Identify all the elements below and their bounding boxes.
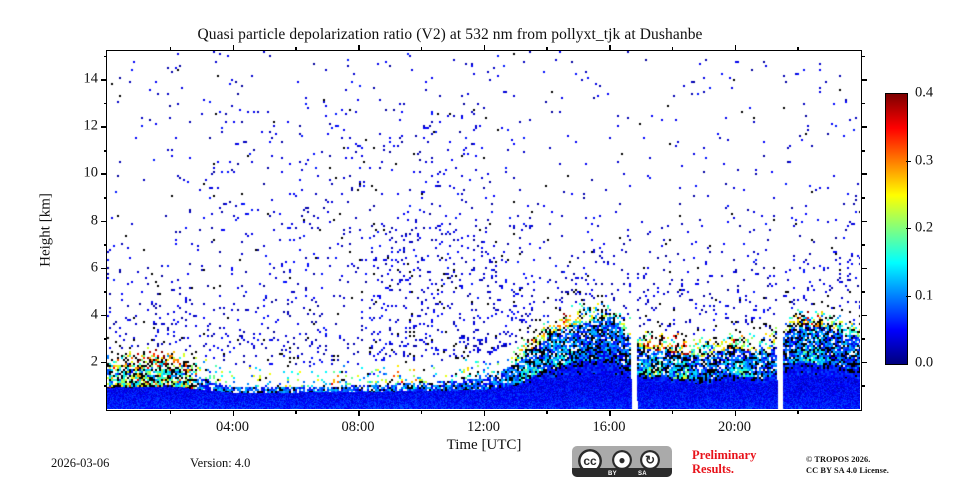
y-minor-tick <box>861 244 865 246</box>
x-tick-mark <box>484 410 486 416</box>
y-tick-mark <box>101 268 107 270</box>
x-minor-tick <box>546 410 548 414</box>
y-minor-tick <box>861 103 865 105</box>
y-tick-label: 4 <box>91 306 98 323</box>
preliminary-line-1: Preliminary <box>692 448 802 462</box>
x-minor-tick <box>421 47 423 51</box>
preliminary-results-note: Preliminary Results. <box>692 448 802 476</box>
y-minor-tick <box>104 103 108 105</box>
x-tick-label: 20:00 <box>718 419 751 436</box>
x-tick-label: 04:00 <box>216 419 249 436</box>
x-minor-tick <box>797 47 799 51</box>
y-minor-tick <box>104 197 108 199</box>
cc-by-person-icon: ● <box>612 450 632 470</box>
cc-badge-strip: BY SA <box>572 468 672 477</box>
heatmap-canvas[interactable] <box>107 51 860 409</box>
y-minor-tick <box>861 291 865 293</box>
x-tick-mark <box>609 45 611 51</box>
y-minor-tick <box>861 56 865 58</box>
y-tick-mark <box>101 221 107 223</box>
y-tick-mark <box>861 173 867 175</box>
colorbar-gradient <box>885 93 908 365</box>
colorbar-tick-mark <box>906 296 911 297</box>
x-minor-tick <box>797 410 799 414</box>
y-tick-label: 14 <box>84 71 99 88</box>
x-minor-tick <box>170 47 172 51</box>
x-tick-mark <box>358 410 360 416</box>
footer-date: 2026-03-06 <box>51 456 109 471</box>
y-minor-tick <box>861 385 865 387</box>
y-tick-label: 2 <box>91 353 98 370</box>
x-minor-tick <box>672 47 674 51</box>
x-axis-label: Time [UTC] <box>447 437 522 454</box>
copyright-line-1: © TROPOS 2026. <box>806 455 956 466</box>
y-tick-mark <box>101 173 107 175</box>
plot-area[interactable]: 2468101214 04:0008:0012:0016:0020:00 <box>106 50 862 411</box>
y-minor-tick <box>861 150 865 152</box>
y-minor-tick <box>104 244 108 246</box>
x-tick-mark <box>609 410 611 416</box>
y-minor-tick <box>104 291 108 293</box>
y-tick-label: 12 <box>84 118 99 135</box>
y-tick-mark <box>861 221 867 223</box>
x-tick-mark <box>484 45 486 51</box>
x-tick-label: 16:00 <box>592 419 625 436</box>
colorbar[interactable]: 0.00.10.20.30.4 <box>885 93 906 363</box>
footer-version: Version: 4.0 <box>190 456 250 471</box>
y-minor-tick <box>104 56 108 58</box>
x-tick-mark <box>233 45 235 51</box>
x-minor-tick <box>421 410 423 414</box>
colorbar-tick-label: 0.3 <box>915 152 933 169</box>
y-minor-tick <box>104 385 108 387</box>
y-tick-mark <box>861 79 867 81</box>
colorbar-tick-label: 0.1 <box>915 287 933 304</box>
x-tick-label: 12:00 <box>467 419 500 436</box>
x-minor-tick <box>546 47 548 51</box>
y-tick-mark <box>861 268 867 270</box>
y-minor-tick <box>104 338 108 340</box>
colorbar-tick-label: 0.2 <box>915 220 933 237</box>
cc-sa-share-alike-icon: ↺ <box>640 450 660 470</box>
y-axis-label: Height [km] <box>38 193 55 267</box>
colorbar-tick-mark <box>906 161 911 162</box>
y-minor-tick <box>861 338 865 340</box>
y-tick-mark <box>861 315 867 317</box>
y-tick-mark <box>861 126 867 128</box>
colorbar-tick-mark <box>906 228 911 229</box>
y-minor-tick <box>104 150 108 152</box>
page-title: Quasi particle depolarization ratio (V2)… <box>0 26 900 44</box>
x-tick-label: 08:00 <box>341 419 374 436</box>
x-minor-tick <box>170 410 172 414</box>
y-tick-mark <box>101 79 107 81</box>
copyright-line-2: CC BY SA 4.0 License. <box>806 466 956 477</box>
x-minor-tick <box>295 47 297 51</box>
cc-sa-label: SA <box>638 471 647 477</box>
x-minor-tick <box>672 410 674 414</box>
x-tick-mark <box>233 410 235 416</box>
y-tick-label: 8 <box>91 212 98 229</box>
y-tick-label: 10 <box>84 165 99 182</box>
x-tick-mark <box>735 45 737 51</box>
y-minor-tick <box>861 197 865 199</box>
cc-by-label: BY <box>608 471 617 477</box>
colorbar-tick-label: 0.0 <box>915 355 933 372</box>
y-tick-mark <box>101 315 107 317</box>
x-tick-mark <box>358 45 360 51</box>
colorbar-tick-label: 0.4 <box>915 85 933 102</box>
y-tick-label: 6 <box>91 259 98 276</box>
preliminary-line-2: Results. <box>692 462 802 476</box>
quicklook-figure: Quasi particle depolarization ratio (V2)… <box>0 0 960 480</box>
x-minor-tick <box>295 410 297 414</box>
copyright-note: © TROPOS 2026. CC BY SA 4.0 License. <box>806 455 956 477</box>
y-tick-mark <box>101 362 107 364</box>
y-tick-mark <box>861 362 867 364</box>
x-tick-mark <box>735 410 737 416</box>
y-tick-mark <box>101 126 107 128</box>
cc-license-badge-icon[interactable]: cc ● ↺ BY SA <box>572 446 672 477</box>
